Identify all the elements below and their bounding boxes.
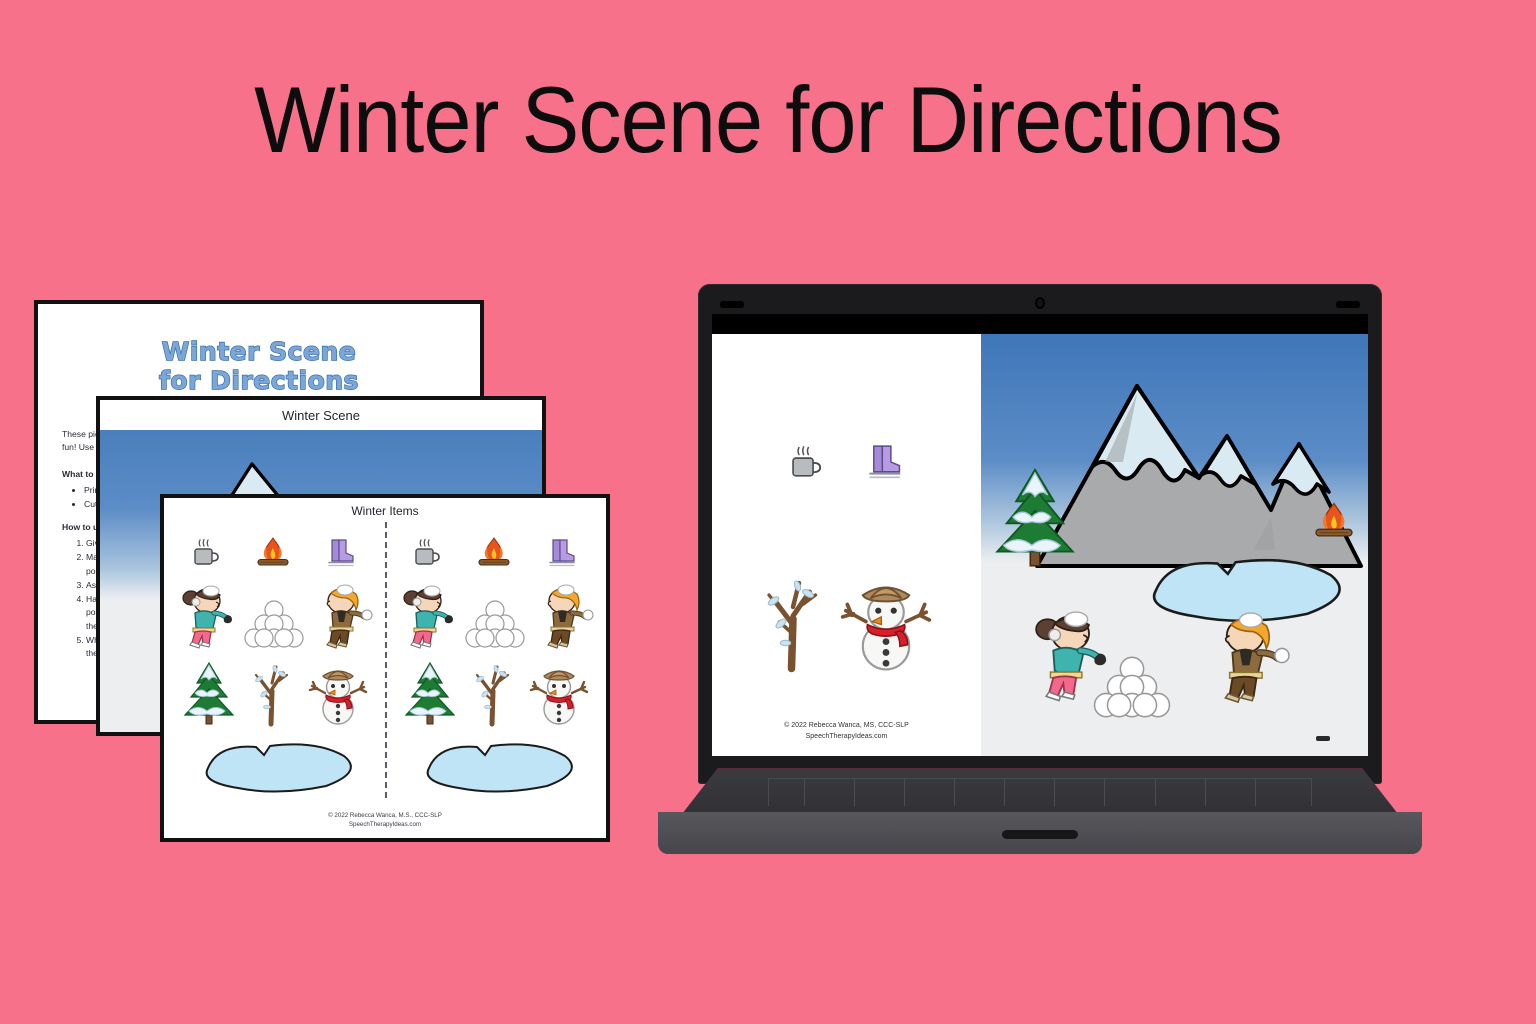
- campfire-icon[interactable]: [1310, 502, 1358, 541]
- items-row-2: [395, 582, 596, 648]
- keyboard-area: [768, 778, 1312, 806]
- snowball-pile-icon: [241, 600, 307, 648]
- winter-items-column-right: [385, 526, 606, 800]
- items-row-1: [174, 537, 375, 569]
- hot-cocoa-mug-icon[interactable]: [786, 446, 826, 482]
- frozen-pond-icon: [407, 738, 585, 794]
- lid-side-port-icon: [1316, 736, 1330, 741]
- boy-throwing-snowball-icon[interactable]: [1207, 608, 1289, 703]
- laptop-mockup: © 2022 Rebecca Wanca, MS, CCC-SLP Speech…: [636, 284, 1444, 860]
- hot-cocoa-mug-icon: [189, 539, 223, 569]
- keyboard-line: [904, 778, 905, 806]
- keyboard-line: [804, 778, 805, 806]
- campfire-icon: [474, 537, 514, 569]
- credit-line-1: © 2022 Rebecca Wanca, M.S., CCC-SLP: [164, 812, 606, 821]
- items-row-1: [395, 537, 596, 569]
- laptop-keyboard-deck: [682, 768, 1398, 814]
- laptop-lid: © 2022 Rebecca Wanca, MS, CCC-SLP Speech…: [698, 284, 1382, 784]
- snowball-pile-icon[interactable]: [1089, 656, 1175, 718]
- bare-tree-icon: [471, 661, 515, 725]
- laptop-front-lip: [658, 812, 1422, 854]
- keyboard-line: [1104, 778, 1105, 806]
- keyboard-line: [1054, 778, 1055, 806]
- winter-items-grid: [164, 526, 606, 800]
- campfire-icon: [253, 537, 293, 569]
- bare-tree-icon[interactable]: [760, 574, 826, 670]
- keyboard-line: [854, 778, 855, 806]
- girl-throwing-snowball-icon: [178, 582, 234, 648]
- snowy-pine-tree-icon: [181, 661, 237, 725]
- screen-top-bar: [712, 314, 1368, 334]
- snowy-pine-tree-icon[interactable]: [991, 466, 1079, 568]
- items-row-3: [174, 661, 375, 725]
- keyboard-line: [1255, 778, 1256, 806]
- winter-scene-page-title: Winter Scene: [100, 400, 542, 430]
- hot-cocoa-mug-icon: [410, 539, 444, 569]
- cover-title-line2: for Directions: [38, 367, 480, 396]
- screen-left-panel[interactable]: © 2022 Rebecca Wanca, MS, CCC-SLP Speech…: [712, 334, 981, 756]
- laptop-latch-notch-icon: [1002, 830, 1078, 839]
- winter-items-page-title: Winter Items: [164, 504, 606, 518]
- items-page-credit: © 2022 Rebecca Wanca, M.S., CCC-SLP Spee…: [164, 812, 606, 830]
- boy-throwing-snowball-icon: [535, 582, 593, 648]
- girl-throwing-snowball-icon: [399, 582, 455, 648]
- snowman-icon[interactable]: [838, 572, 934, 671]
- items-row-2: [174, 582, 375, 648]
- snowman-icon: [307, 661, 369, 725]
- cover-title-line1: Winter Scene: [38, 338, 480, 367]
- speaker-grille-left-icon: [720, 301, 744, 308]
- credit-line-1: © 2022 Rebecca Wanca, MS, CCC-SLP: [712, 721, 981, 732]
- cover-page-title: Winter Scene for Directions: [38, 338, 480, 395]
- keyboard-line: [1004, 778, 1005, 806]
- page-title: Winter Scene for Directions: [61, 66, 1474, 174]
- screen-right-panel[interactable]: [981, 334, 1368, 756]
- ice-skates-icon[interactable]: [864, 442, 908, 482]
- keyboard-line: [1205, 778, 1206, 806]
- ice-skates-icon: [324, 537, 360, 569]
- camera-icon: [1035, 297, 1045, 309]
- laptop-base: [636, 768, 1444, 860]
- screen-credit: © 2022 Rebecca Wanca, MS, CCC-SLP Speech…: [712, 721, 981, 742]
- winter-items-column-left: [164, 526, 385, 800]
- keyboard-line: [1155, 778, 1156, 806]
- speaker-grille-right-icon: [1336, 301, 1360, 308]
- snowball-pile-icon: [462, 600, 528, 648]
- frozen-pond-icon: [186, 738, 364, 794]
- credit-line-2: SpeechTherapyIdeas.com: [712, 732, 981, 743]
- boy-throwing-snowball-icon: [314, 582, 372, 648]
- laptop-screen[interactable]: © 2022 Rebecca Wanca, MS, CCC-SLP Speech…: [712, 334, 1368, 756]
- keyboard-line: [954, 778, 955, 806]
- items-row-3: [395, 661, 596, 725]
- snowy-pine-tree-icon: [402, 661, 458, 725]
- credit-line-2: SpeechTherapyIdeas.com: [164, 821, 606, 830]
- winter-items-page: Winter Items: [160, 494, 610, 842]
- items-row-4: [174, 738, 375, 794]
- bare-tree-icon: [250, 661, 294, 725]
- snowman-icon: [528, 661, 590, 725]
- ice-skates-icon: [545, 537, 581, 569]
- items-row-4: [395, 738, 596, 794]
